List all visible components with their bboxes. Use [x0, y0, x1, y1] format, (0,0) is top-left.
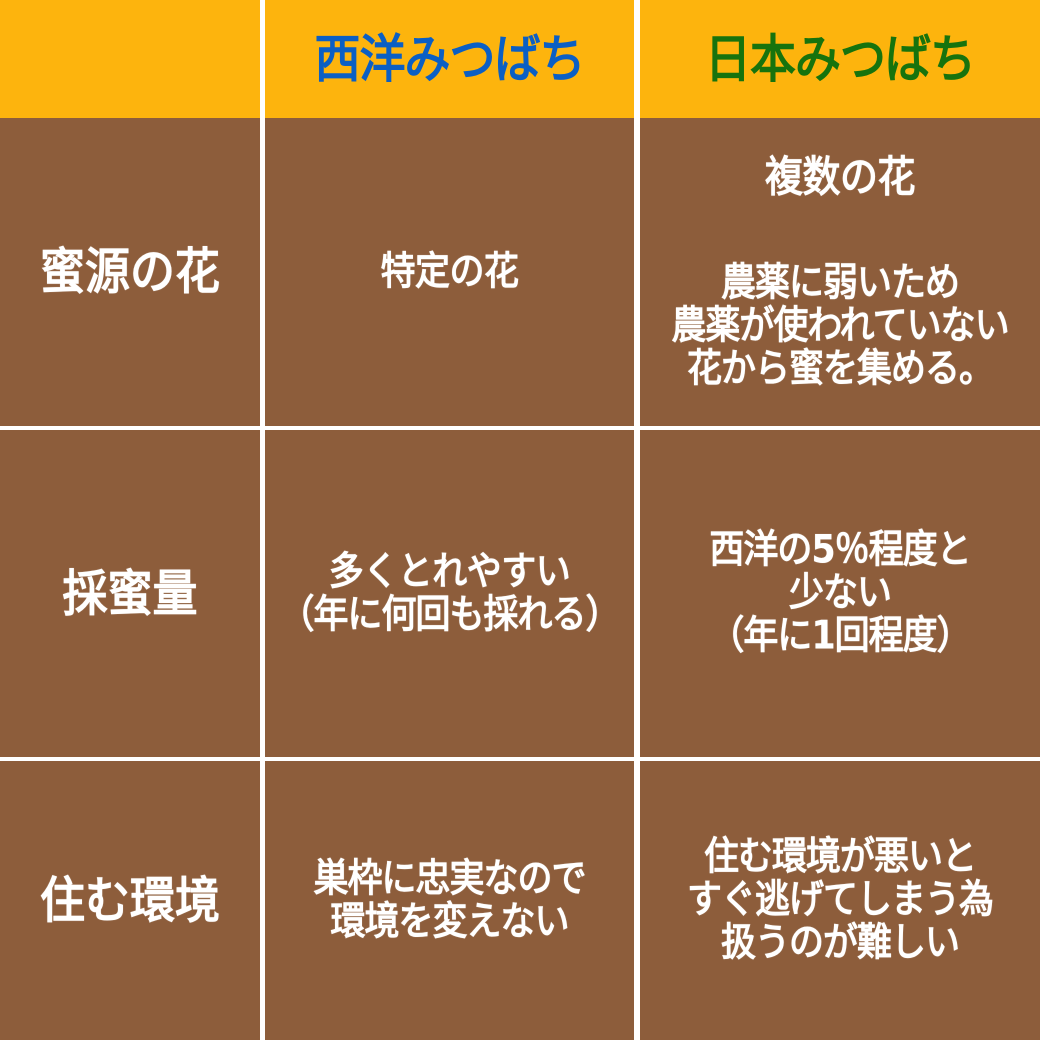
bee-comparison-table: 西洋みつばち 日本みつばち 蜜源の花 特定の花 複数の花 農薬に弱いため 農薬が…	[0, 0, 1040, 1040]
cell-text-note-line: 農薬が使われていない	[671, 302, 1008, 350]
cell-japanese-1: 西洋の5％程度と 少ない （年に1回程度）	[640, 426, 1040, 757]
header-japanese-bee: 日本みつばち	[640, 0, 1040, 118]
cell-text-note-line: 農薬に弱いため	[721, 260, 959, 308]
cell-japanese-2-content: 住む環境が悪いと すぐ逃げてしまう為 扱うのが難しい	[640, 836, 1040, 964]
cell-text-line: 少ない	[789, 570, 891, 618]
cell-text-line: 扱うのが難しい	[721, 919, 959, 967]
cell-western-0: 特定の花	[265, 118, 640, 426]
cell-western-2: 巣枠に忠実なので 環境を変えない	[265, 757, 640, 1040]
cell-text-line: 西洋の5％程度と	[709, 527, 970, 575]
cell-western-0-content: 特定の花	[265, 251, 634, 294]
cell-text-main: 複数の花	[765, 151, 915, 203]
cell-text-line: 特定の花	[380, 248, 518, 296]
cell-western-1: 多くとれやすい （年に何回も採れる）	[265, 426, 640, 757]
cell-western-2-content: 巣枠に忠実なので 環境を変えない	[265, 858, 634, 943]
cell-japanese-2: 住む環境が悪いと すぐ逃げてしまう為 扱うのが難しい	[640, 757, 1040, 1040]
cell-text-line: （年に1回程度）	[709, 612, 970, 660]
cell-japanese-0: 複数の花 農薬に弱いため 農薬が使われていない 花から蜜を集める。	[640, 118, 1040, 426]
cell-text-line: （年に何回も採れる）	[279, 591, 619, 639]
header-western-bee-label: 西洋みつばち	[315, 33, 585, 85]
row-label-0: 蜜源の花	[40, 244, 220, 301]
row-label-2: 住む環境	[40, 872, 220, 929]
cell-text-line: 巣枠に忠実なので	[313, 855, 585, 903]
cell-text-line: 環境を変えない	[330, 898, 568, 946]
cell-japanese-0-content: 複数の花 農薬に弱いため 農薬が使われていない 花から蜜を集める。	[640, 154, 1040, 390]
cell-japanese-1-content: 西洋の5％程度と 少ない （年に1回程度）	[640, 529, 1040, 657]
cell-western-1-content: 多くとれやすい （年に何回も採れる）	[265, 551, 634, 636]
row-label-cell: 住む環境	[0, 757, 265, 1040]
row-label-cell: 蜜源の花	[0, 118, 265, 426]
header-western-bee: 西洋みつばち	[265, 0, 640, 118]
cell-text-line: 住む環境が悪いと	[704, 834, 976, 882]
cell-text-line: 多くとれやすい	[329, 548, 571, 596]
cell-text-line: すぐ逃げてしまう為	[687, 877, 993, 925]
header-japanese-bee-label: 日本みつばち	[705, 33, 975, 85]
header-corner-cell	[0, 0, 265, 118]
row-label-1: 採蜜量	[62, 565, 197, 622]
cell-text-note-line: 花から蜜を集める。	[687, 345, 993, 393]
row-label-cell: 採蜜量	[0, 426, 265, 757]
